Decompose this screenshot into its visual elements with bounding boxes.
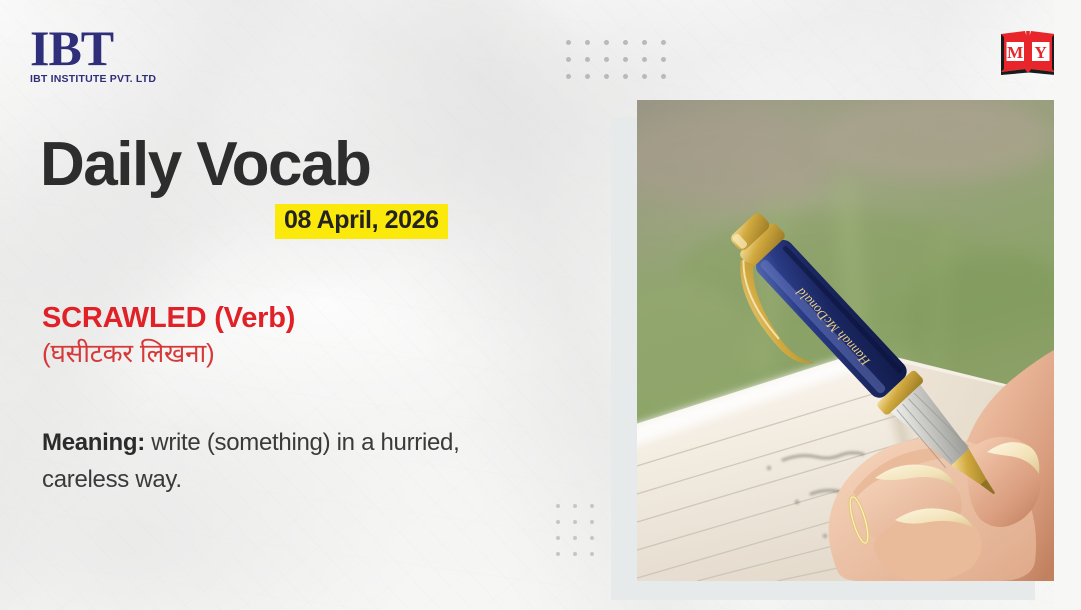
dot: [604, 57, 609, 62]
page-title: Daily Vocab: [40, 134, 370, 196]
date-badge-wrap: 08 April, 2026: [275, 204, 448, 239]
my-logo-letter-y: Y: [1035, 43, 1047, 62]
dot: [661, 40, 666, 45]
my-book-logo: M Y: [999, 28, 1057, 76]
dot: [556, 552, 560, 556]
vocab-block: SCRAWLED (Verb) (घसीटकर लिखना): [42, 303, 295, 371]
dot: [585, 40, 590, 45]
page-title-wrap: Daily Vocab: [40, 134, 370, 196]
dot: [623, 40, 628, 45]
open-book-icon: M Y: [999, 28, 1057, 76]
dot: [573, 520, 577, 524]
dot: [573, 536, 577, 540]
dot: [661, 74, 666, 79]
dot: [585, 57, 590, 62]
dot-grid-top: [566, 40, 680, 91]
vocab-word-translation: (घसीटकर लिखना): [42, 337, 295, 371]
dot: [556, 520, 560, 524]
dot: [623, 74, 628, 79]
ibt-logo: IBT IBT INSTITUTE PVT. LTD: [30, 25, 190, 85]
meaning-label: Meaning:: [42, 429, 145, 456]
dot: [566, 57, 571, 62]
meaning-line: Meaning: write (something) in a hurried,…: [42, 424, 494, 498]
vocab-photo: Hannah McDonald: [637, 100, 1054, 581]
dot: [604, 74, 609, 79]
dot: [590, 504, 594, 508]
dot: [573, 504, 577, 508]
dot: [556, 504, 560, 508]
dot: [566, 74, 571, 79]
dot: [604, 40, 609, 45]
hand-writing-photo-illustration: Hannah McDonald: [637, 100, 1054, 581]
right-gutter: [1054, 0, 1081, 610]
dot: [642, 57, 647, 62]
meaning-block: Meaning: write (something) in a hurried,…: [42, 424, 494, 498]
dot-grid-bottom: [556, 504, 607, 568]
dot: [590, 520, 594, 524]
slide-canvas: IBT IBT INSTITUTE PVT. LTD M Y: [0, 0, 1081, 610]
ibt-logo-subtitle: IBT INSTITUTE PVT. LTD: [30, 73, 190, 85]
date-badge: 08 April, 2026: [275, 204, 448, 239]
dot: [573, 552, 577, 556]
ibt-logo-mark: IBT: [30, 25, 190, 71]
dot: [642, 40, 647, 45]
dot: [661, 57, 666, 62]
dot: [623, 57, 628, 62]
dot: [556, 536, 560, 540]
my-logo-letter-m: M: [1007, 43, 1023, 62]
dot: [585, 74, 590, 79]
dot: [590, 536, 594, 540]
dot: [642, 74, 647, 79]
dot: [566, 40, 571, 45]
vocab-word: SCRAWLED (Verb): [42, 303, 295, 334]
dot: [590, 552, 594, 556]
